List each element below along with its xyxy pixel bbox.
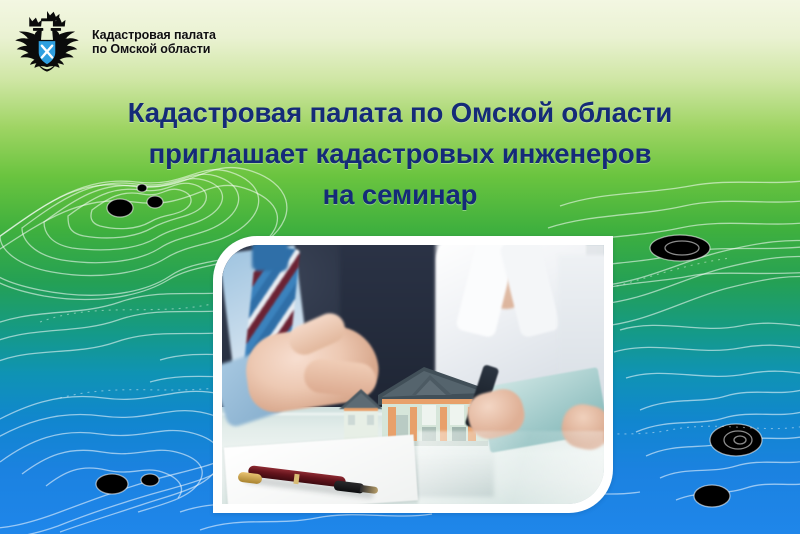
necktie-knot xyxy=(252,245,288,271)
poster-canvas: Кадастровая палата по Омской области Кад… xyxy=(0,0,800,534)
logo-text: Кадастровая палата по Омской области xyxy=(92,28,216,57)
glass-reflection xyxy=(418,431,604,504)
double-headed-eagle-emblem-icon xyxy=(10,8,84,76)
headline-line-3: на семинар xyxy=(0,174,800,215)
page-title: Кадастровая палата по Омской области при… xyxy=(0,92,800,215)
headline-line-1: Кадастровая палата по Омской области xyxy=(0,92,800,133)
photo-frame xyxy=(213,236,613,513)
logo-text-line-1: Кадастровая палата xyxy=(92,28,216,43)
seminar-photo xyxy=(222,245,604,504)
logo-text-line-2: по Омской области xyxy=(92,42,216,57)
headline-line-2: приглашает кадастровых инженеров xyxy=(0,133,800,174)
organization-logo: Кадастровая палата по Омской области xyxy=(10,8,216,76)
